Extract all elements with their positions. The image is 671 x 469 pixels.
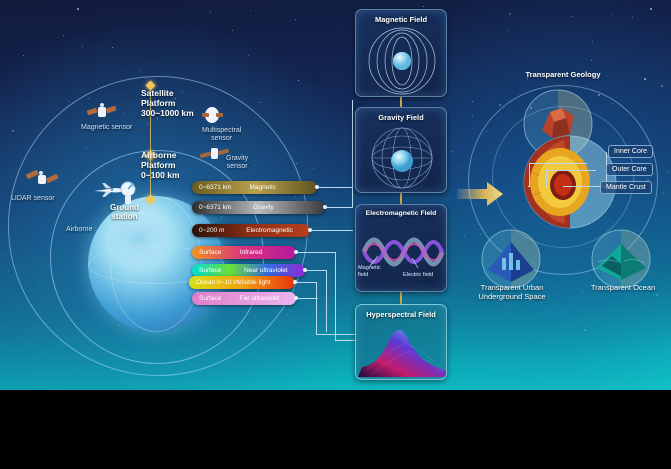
panel-electromagnetic-field-title: Electromagnetic Field (356, 210, 446, 217)
multispectral-sensor-line2: sensor (202, 135, 241, 143)
magnetic-field-annotation: Magnetic field (358, 265, 381, 278)
transparent-urban-line1: Transparent Urban (462, 283, 562, 292)
panel-magnetic-field-title: Magnetic Field (356, 15, 446, 24)
gravity-sensor-line1: Gravity (226, 155, 248, 163)
gravity-sensor-label: Gravity sensor (226, 155, 248, 171)
ground-station-label: Ground station (110, 203, 139, 221)
multispectral-sensor-label: Multispectral sensor (202, 127, 241, 143)
depth-bar-gravity-name: Gravity (253, 204, 325, 211)
airborne-platform-altitude: 0~100 km (141, 171, 180, 181)
letterbox-bottom (0, 390, 671, 469)
gravity-sensor-line2: sensor (226, 163, 248, 171)
wire-dot-gravity (323, 205, 327, 209)
wire-nuv (305, 270, 327, 271)
magnetic-field-annotation-line2: field (358, 272, 381, 279)
depth-bar-magnetic-name: Magnetic (250, 184, 318, 191)
depth-bar-magnetic-depth: 0~6371 km (192, 184, 250, 191)
depth-bar-visible-light-name: Visible light (238, 279, 295, 286)
gravity-field-figure (356, 125, 446, 189)
panel-gravity-field[interactable]: Gravity Field (355, 107, 447, 193)
panel-magnetic-field[interactable]: Magnetic Field (355, 9, 447, 97)
airborne-platform-label: Airborne Platform 0~100 km (141, 151, 180, 180)
depth-bar-gravity-depth: 0~6371 km (192, 204, 253, 211)
electric-field-annotation: Electric field (403, 272, 433, 278)
transparent-ocean-line1: Transparent Ocean (578, 283, 668, 292)
wire-dot-nuv (303, 268, 307, 272)
wire-visible-down (316, 282, 317, 334)
wire-infrared (296, 252, 336, 253)
wire-gravity-up (352, 150, 353, 208)
wire-fuv (296, 298, 318, 299)
depth-bar-electromagnetic-name: Electromagnetic (246, 227, 310, 234)
panel-link-gravity-em (400, 192, 402, 204)
magnetic-field-annotation-line1: Magnetic (358, 265, 381, 272)
gravity-sensor-icon (199, 143, 229, 170)
satellite-platform-label: Satellite Platform 300~1000 km (141, 89, 194, 118)
panel-hyperspectral-field[interactable]: Hyperspectral Field (355, 304, 447, 380)
wire-dot-electromagnetic (308, 228, 312, 232)
callout-mantle-up (529, 163, 530, 187)
wire-infrared-down (335, 252, 336, 340)
panel-hyperspectral-field-title: Hyperspectral Field (356, 310, 446, 319)
depth-bar-gravity[interactable]: 0~6371 km Gravity (192, 201, 325, 214)
depth-bar-infrared[interactable]: Surface Infrared (192, 246, 296, 259)
callout-mantle-right (529, 163, 587, 164)
ground-station-line2: station (110, 212, 139, 221)
depth-bar-near-ultraviolet-name: Near ultraviolet (244, 267, 305, 274)
multispectral-sensor-line1: Multispectral (202, 127, 241, 135)
depth-bar-far-ultraviolet[interactable]: Surface Far ultraviolet (192, 292, 296, 305)
panel-gravity-field-title: Gravity Field (356, 113, 446, 122)
label-mantle-crust[interactable]: Mantle Crust (600, 181, 652, 194)
wire-visible (295, 282, 317, 283)
satellite-platform-altitude: 300~1000 km (141, 109, 194, 119)
wire-fuv-in (316, 334, 356, 335)
magnetic-sensor-label: Magnetic sensor (81, 124, 132, 132)
electromagnetic-field-figure: Magnetic field Electric field (356, 222, 446, 288)
transparent-ocean-caption: Transparent Ocean (578, 283, 668, 292)
depth-bar-visible-light-depth: Ocean 0~10 m (189, 279, 238, 286)
wire-dot-fuv (294, 296, 298, 300)
depth-bar-electromagnetic[interactable]: 0~200 m Electromagnetic (192, 224, 310, 237)
panel-electromagnetic-field[interactable]: Electromagnetic Field Magnetic field Ele… (355, 204, 447, 292)
transparent-geology-caption: Transparent Geology (498, 70, 628, 79)
depth-bar-magnetic[interactable]: 0~6371 km Magnetic (192, 181, 317, 194)
depth-bar-infrared-depth: Surface (192, 249, 240, 256)
callout-outer-core-h (546, 170, 596, 171)
magnetic-field-figure (356, 27, 446, 93)
diagram-canvas: Satellite Platform 300~1000 km Airborne … (0, 0, 671, 469)
depth-bar-far-ultraviolet-depth: Surface (192, 295, 240, 302)
callout-outer-core-v (546, 170, 547, 187)
transparent-urban-line2: Underground Space (462, 292, 562, 301)
depth-bar-far-ultraviolet-name: Far ultraviolet (240, 295, 296, 302)
transparent-urban-caption: Transparent Urban Underground Space (462, 283, 562, 302)
label-outer-core[interactable]: Outer Core (606, 163, 653, 176)
ground-station-line1: Ground (110, 203, 139, 212)
lidar-sensor-label: LIDAR sensor (11, 195, 55, 203)
airborne-label: Airborne (66, 226, 92, 234)
wire-infrared-in (335, 340, 355, 341)
label-inner-core[interactable]: Inner Core (608, 145, 653, 158)
wire-gravity (325, 207, 353, 208)
depth-bar-infrared-name: Infrared (240, 249, 296, 256)
lidar-sensor-icon (25, 166, 59, 195)
wire-nuv-down (326, 270, 327, 332)
hyperspectral-field-figure (356, 321, 446, 376)
wire-dot-infrared (294, 250, 298, 254)
depth-bar-near-ultraviolet-depth: Surface (192, 267, 244, 274)
depth-bar-electromagnetic-depth: 0~200 m (192, 227, 246, 234)
artwork-area: Satellite Platform 300~1000 km Airborne … (0, 0, 671, 390)
wire-magnetic (317, 187, 353, 188)
wire-dot-visible (293, 280, 297, 284)
depth-bar-visible-light[interactable]: Ocean 0~10 m Visible light (189, 276, 295, 289)
wire-electromagnetic (310, 230, 353, 231)
panel-link-em-hyper (400, 292, 402, 304)
wire-dot-magnetic (315, 185, 319, 189)
